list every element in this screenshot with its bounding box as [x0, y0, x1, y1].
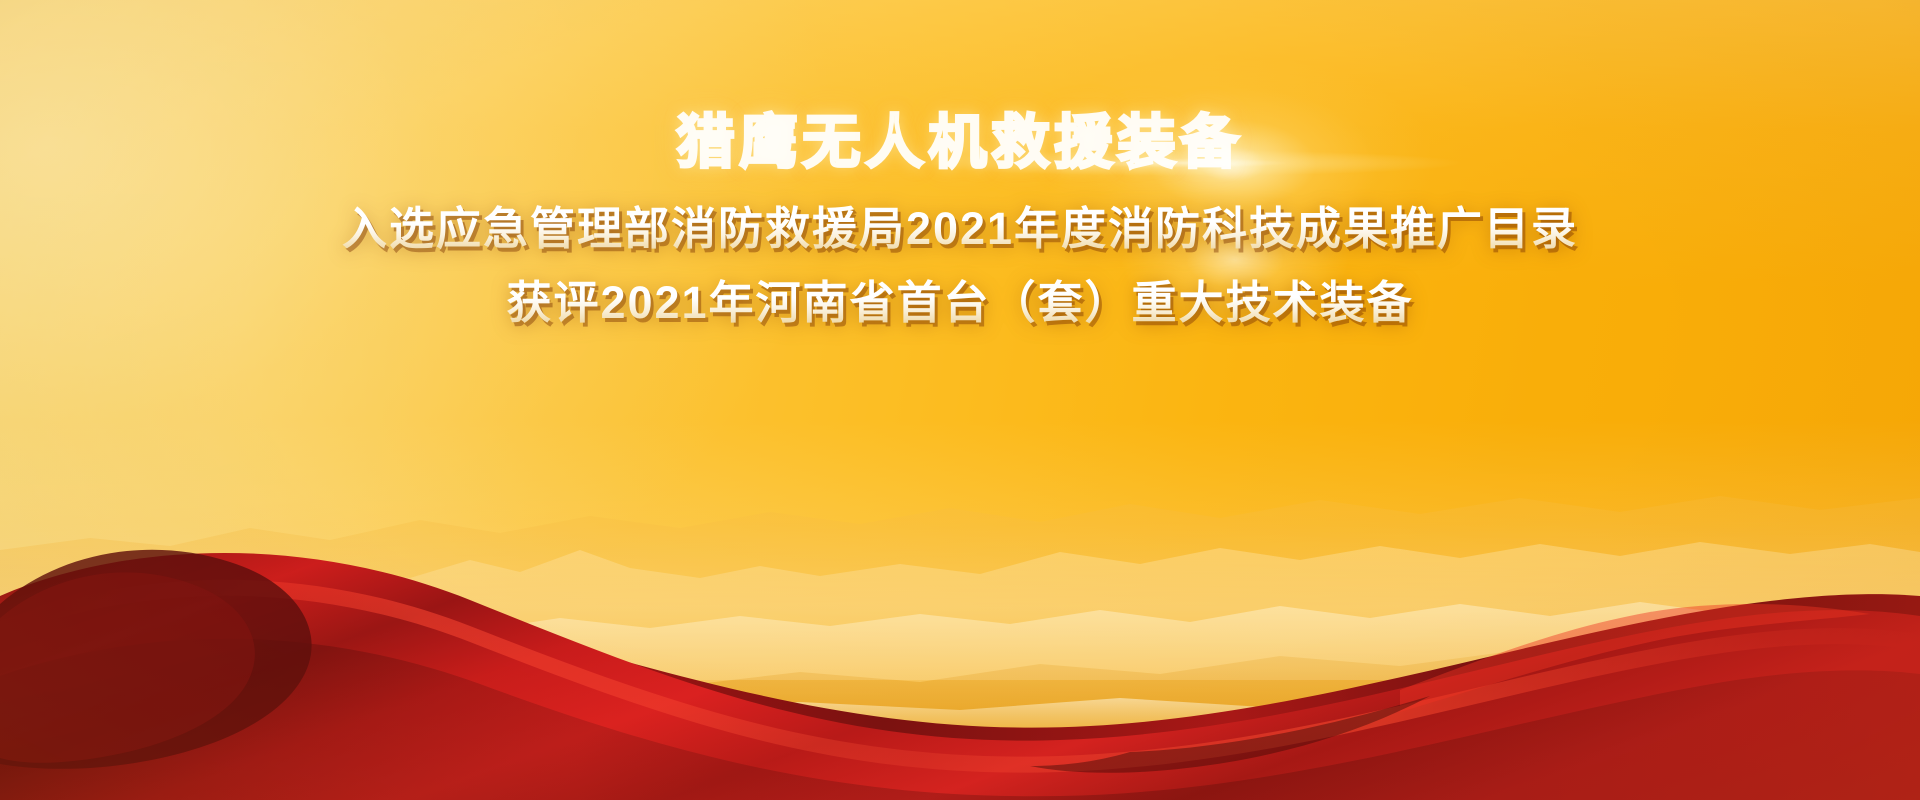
subtitle-line-1: 入选应急管理部消防救援局2021年度消防科技成果推广目录 [0, 199, 1920, 258]
page-title: 猎鹰无人机救援装备 [0, 112, 1920, 173]
red-silk-ribbon-waves [0, 500, 1920, 800]
subtitle-line-2: 获评2021年河南省首台（套）重大技术装备 [0, 273, 1920, 332]
promo-banner: 猎鹰无人机救援装备 入选应急管理部消防救援局2021年度消防科技成果推广目录 获… [0, 0, 1920, 800]
banner-text-block: 猎鹰无人机救援装备 入选应急管理部消防救援局2021年度消防科技成果推广目录 获… [0, 112, 1920, 332]
